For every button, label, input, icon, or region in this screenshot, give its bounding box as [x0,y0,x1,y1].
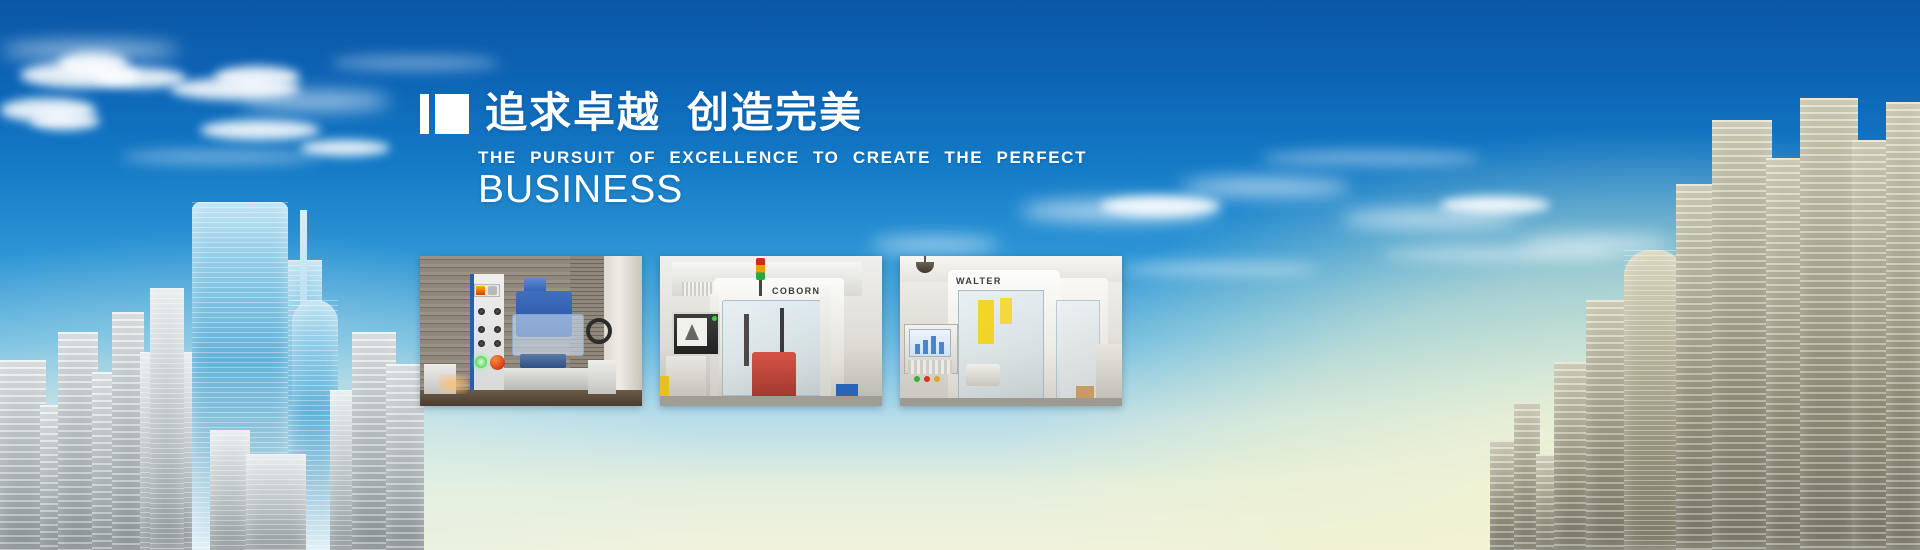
coborn-brand-label: COBORN [772,286,820,296]
room-floor [900,398,1122,406]
panel-knob-1 [478,308,485,315]
console-chart-bar-1 [915,344,920,354]
panel-knob-4 [494,326,501,333]
hmi-triangle-graphic [685,324,699,340]
logo-bar-icon [420,94,429,134]
hero-banner: 追求卓越创造完美 THE PURSUIT OF EXCELLENCE TO CR… [0,0,1920,550]
banner-content: 追求卓越创造完美 THE PURSUIT OF EXCELLENCE TO CR… [420,0,1140,550]
walter-brand-label: WALTER [956,276,1002,286]
side-cabinet-right [588,360,616,394]
workshop-floor [660,396,882,406]
console-keypad [908,360,952,374]
headline-chinese-part2: 创造完美 [687,89,863,136]
panel-knob-2 [494,308,501,315]
internal-yellow-panel-2 [1000,298,1012,324]
internal-yellow-panel-1 [978,300,994,344]
hmi-status-led [712,316,717,321]
photo-cnc-grinding-machine-blue[interactable] [420,256,642,406]
console-chart-bar-2 [923,340,928,354]
stack-light-tower-icon [756,258,765,280]
console-button-amber [934,376,940,382]
panel-knob-3 [478,326,485,333]
panel-indicator-grey [488,286,497,295]
console-button-red [924,376,930,382]
handwheel-icon [586,318,612,344]
photo-strip: COBORN [420,256,1122,406]
emergency-stop-button [490,355,505,370]
internal-arm-2 [780,308,784,352]
panel-knob-5 [478,340,485,347]
panel-indicator-orange [476,286,485,295]
business-word: BUSINESS [478,170,683,209]
console-chart-bar-4 [939,342,944,354]
safety-guard-window [512,314,584,356]
enclosure-post-right [820,286,831,398]
power-lamp-green [475,356,487,368]
console-button-green [914,376,920,382]
headline-chinese: 追求卓越创造完美 [485,92,863,134]
photo-coborn-machine[interactable]: COBORN [660,256,882,406]
internal-arm-1 [744,314,749,366]
grinding-spindle [966,364,1000,386]
subtitle-english: THE PURSUIT OF EXCELLENCE TO CREATE THE … [478,148,1087,168]
console-chart-bar-3 [931,336,936,354]
headline-chinese-part1: 追求卓越 [485,89,661,136]
machine-base-plate [520,354,566,368]
logo-square-icon [435,94,469,134]
internal-red-assembly [752,352,796,398]
logo-bar-square-mark [420,94,469,134]
side-electrical-cabinet [1096,344,1122,406]
floor-light-glow [438,374,468,394]
photo-walter-tool-grinder[interactable]: WALTER [900,256,1122,406]
panel-knob-6 [494,340,501,347]
stack-light-mast [759,280,762,296]
headline-row: 追求卓越创造完美 [420,92,863,134]
